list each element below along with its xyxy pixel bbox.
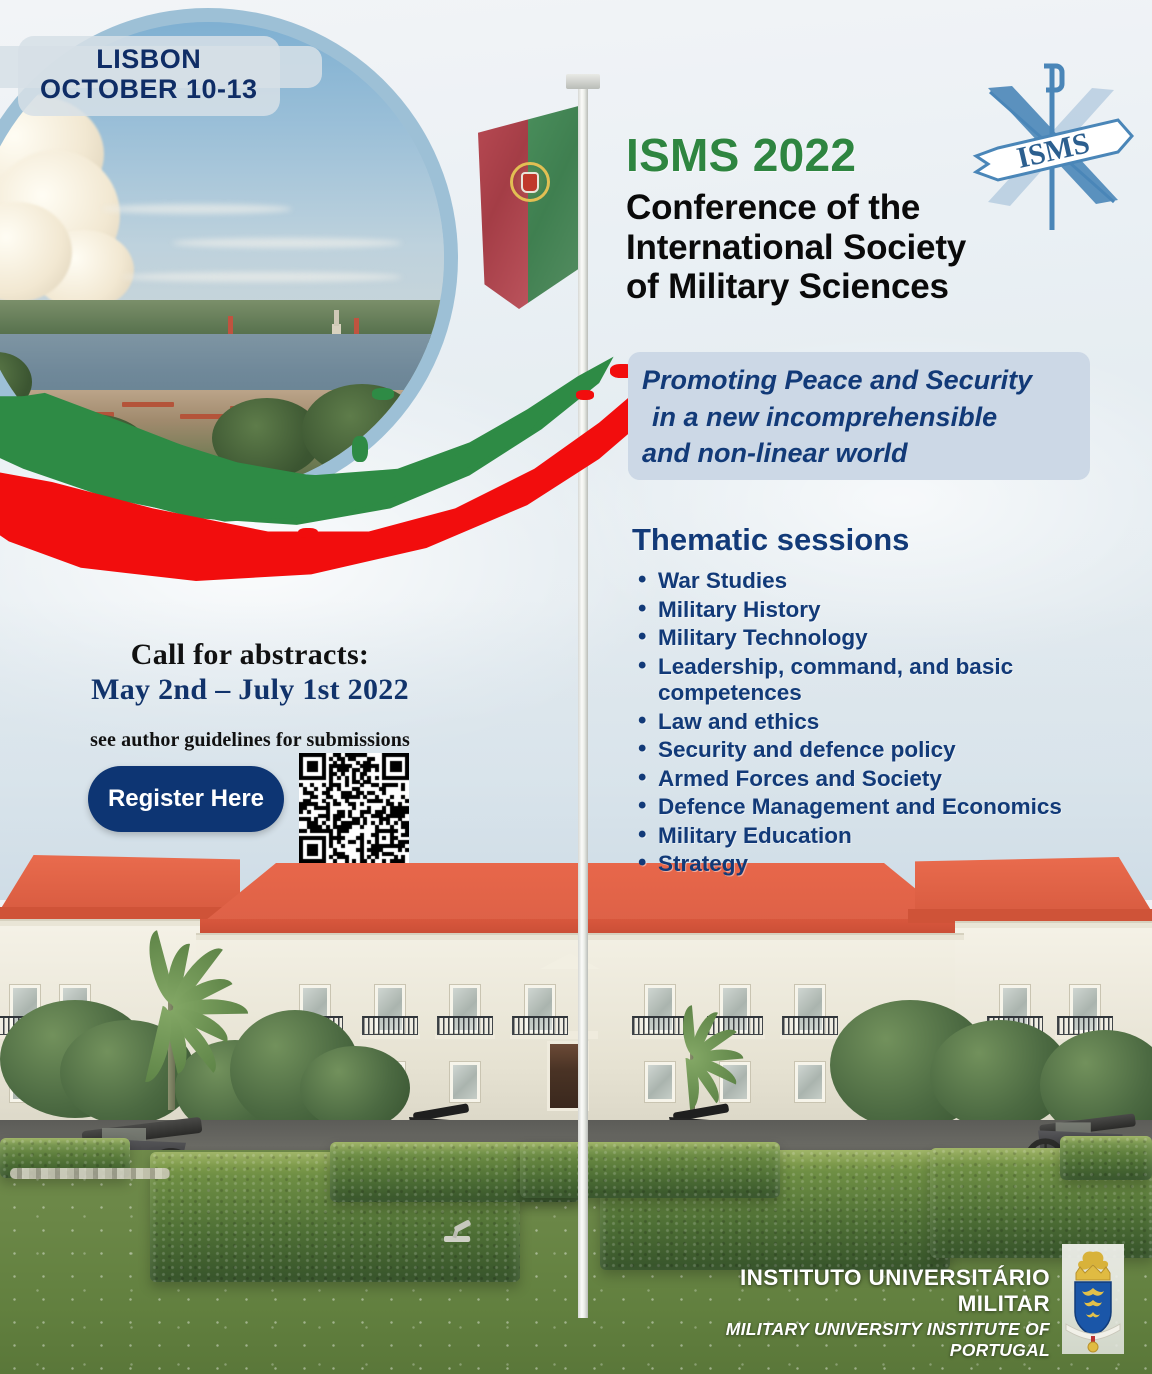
window-lower [450, 1062, 480, 1102]
title-block: ISMS 2022 Conference of the Internationa… [626, 128, 1096, 307]
cloud-wisp-3 [122, 272, 402, 282]
cloud-wisp-1 [102, 204, 292, 214]
window-lower [795, 1062, 825, 1102]
hedge-center-back [520, 1142, 780, 1198]
badge-city: LISBON [40, 44, 258, 74]
session-item: Law and ethics [632, 709, 1102, 736]
conference-title-line2: International Society [626, 228, 1096, 268]
hedge-edge-right [1060, 1136, 1152, 1180]
balcony [437, 1016, 493, 1035]
stone-edging [10, 1168, 170, 1179]
swoosh-fleck-3 [372, 388, 394, 400]
call-dates: May 2nd – July 1st 2022 [30, 673, 470, 707]
tagline-line1: Promoting Peace and Security [642, 362, 1078, 399]
swoosh-fleck-4 [352, 436, 368, 462]
lisbon-date-badge: LISBON OCTOBER 10-13 [18, 36, 280, 116]
session-item: Armed Forces and Society [632, 766, 1102, 793]
call-note: see author guidelines for submissions [30, 729, 470, 752]
event-title: ISMS 2022 [626, 128, 1096, 182]
session-item: Military Education [632, 823, 1102, 850]
session-item: Security and defence policy [632, 737, 1102, 764]
tagline-line3: and non-linear world [642, 435, 1078, 472]
session-item: War Studies [632, 568, 1102, 595]
conference-title: Conference of the International Society … [626, 188, 1096, 307]
cloud-wisp-2 [172, 238, 402, 248]
register-button-label: Register Here [108, 785, 264, 813]
conference-title-line1: Conference of the [626, 188, 1096, 228]
swoosh-fleck-5 [298, 528, 318, 538]
balcony [632, 1016, 688, 1035]
call-heading: Call for abstracts: [30, 638, 470, 672]
balcony [512, 1016, 568, 1035]
balcony [362, 1016, 418, 1035]
ium-coat-of-arms [1062, 1244, 1124, 1354]
thematic-sessions: Thematic sessions War StudiesMilitary Hi… [632, 522, 1102, 880]
shrub-4 [300, 1046, 410, 1130]
session-item: Strategy [632, 851, 1102, 878]
call-for-abstracts: Call for abstracts: May 2nd – July 1st 2… [30, 638, 470, 752]
session-item: Leadership, command, and basic competenc… [632, 654, 1102, 707]
session-item: Defence Management and Economics [632, 794, 1102, 821]
portugal-paint-swoosh [0, 350, 700, 680]
institute-name-en: MILITARY UNIVERSITY INSTITUTE OF PORTUGA… [660, 1319, 1050, 1361]
cornice-left [0, 919, 200, 926]
tagline-banner: Promoting Peace and Security in a new in… [628, 352, 1090, 480]
cristo-rei-statue [334, 310, 339, 326]
badge-dates: OCTOBER 10-13 [40, 74, 258, 104]
session-item: Military History [632, 597, 1102, 624]
session-item: Military Technology [632, 625, 1102, 652]
swoosh-fleck-2 [576, 390, 594, 400]
institute-name-pt: INSTITUTO UNIVERSITÁRIO MILITAR [660, 1265, 1050, 1317]
flagpole [578, 88, 588, 1318]
sessions-list: War StudiesMilitary HistoryMilitary Tech… [632, 568, 1102, 878]
cornice-right [955, 921, 1152, 928]
conference-title-line3: of Military Sciences [626, 267, 1096, 307]
sessions-heading: Thematic sessions [632, 522, 1102, 558]
tagline-text: Promoting Peace and Security in a new in… [628, 352, 1090, 480]
flagpole-cap [566, 74, 600, 89]
garden-light-fixture [444, 1224, 470, 1242]
roof-left [0, 855, 240, 910]
tagline-line2: in a new incomprehensible [642, 399, 1078, 436]
register-here-button[interactable]: Register Here [88, 766, 284, 832]
balcony [782, 1016, 838, 1035]
window-lower [645, 1062, 675, 1102]
crest-medal [1088, 1342, 1098, 1352]
conference-poster: LISBON OCTOBER 10-13 ISMS [0, 0, 1152, 1374]
qr-code[interactable] [299, 753, 409, 863]
institute-footer: INSTITUTO UNIVERSITÁRIO MILITAR MILITARY… [660, 1265, 1050, 1361]
